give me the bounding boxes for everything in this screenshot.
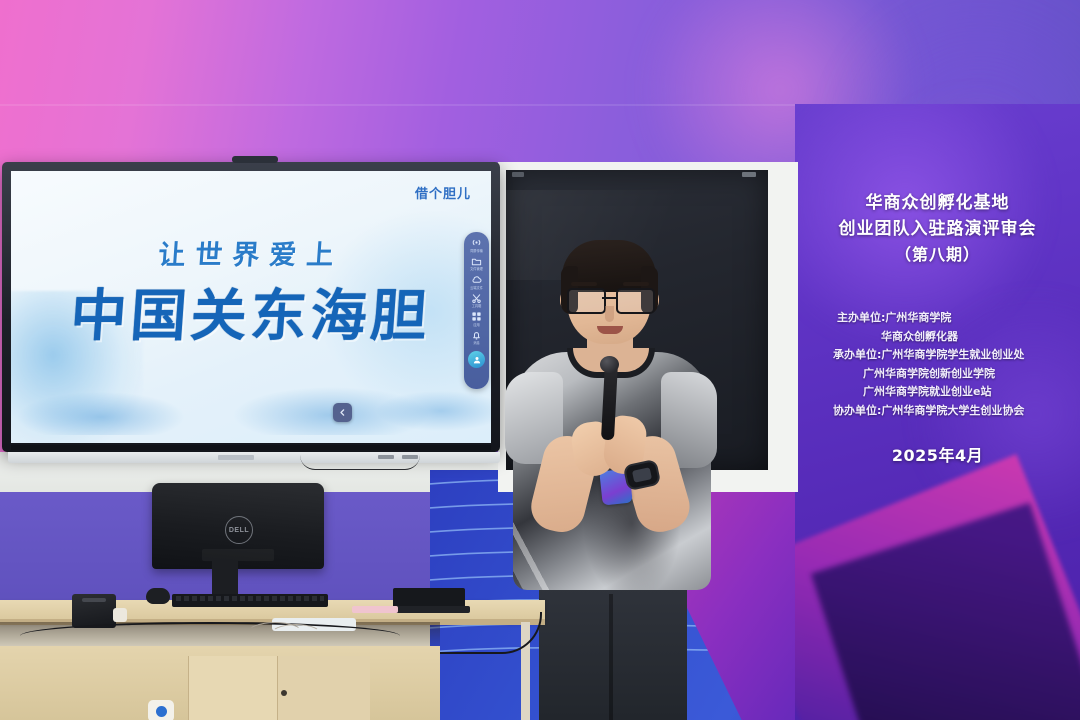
display-camera-notch bbox=[232, 156, 278, 163]
toolbar-item-cloud[interactable]: 云端文件 bbox=[465, 274, 488, 290]
toolbar-label: 应用 bbox=[473, 323, 479, 327]
toolbar-item-messages[interactable]: 消息 bbox=[465, 330, 488, 346]
chevron-left-icon bbox=[338, 408, 347, 417]
presenter-brow-right bbox=[623, 282, 649, 286]
speaker-box bbox=[72, 594, 116, 628]
toolbar-item-broadcast[interactable]: 同屏传输 bbox=[465, 237, 488, 253]
slide-back-button[interactable] bbox=[333, 403, 352, 422]
event-organizers: 主办单位:广州华商学院 华商众创孵化器 承办单位:广州华商学院学生就业创业处 广… bbox=[795, 309, 1080, 420]
toolbar-label: 消息 bbox=[473, 341, 479, 345]
dell-monitor: DELL bbox=[152, 483, 324, 569]
slide-grass-decoration bbox=[11, 365, 491, 435]
toolbar-item-tools[interactable]: 工具箱 bbox=[465, 293, 488, 309]
toolbar-label: 文件管理 bbox=[470, 267, 483, 271]
smart-display[interactable]: 借个胆儿 让世界爱上 中国关东海胆 bbox=[2, 162, 500, 452]
organizer-line: 协办单位:广州华商学院大学生创业协会 bbox=[795, 402, 1080, 421]
cabinet-knob[interactable] bbox=[281, 690, 287, 696]
scissors-icon bbox=[471, 293, 482, 304]
microphone-head bbox=[600, 356, 619, 373]
folder-icon bbox=[471, 256, 482, 267]
slide-screen[interactable]: 借个胆儿 让世界爱上 中国关东海胆 bbox=[11, 171, 491, 443]
blackboard-clip-right bbox=[742, 172, 756, 177]
cabinet-door-right[interactable] bbox=[277, 656, 370, 720]
toolbar-label: 工具箱 bbox=[472, 304, 482, 308]
bell-icon bbox=[471, 330, 482, 341]
slide-headline-line-2: 中国关东海胆 bbox=[11, 271, 491, 352]
event-title-line-2: 创业团队入驻路演评审会 bbox=[795, 216, 1080, 242]
presenter-mouth bbox=[597, 326, 623, 334]
presenter bbox=[505, 240, 720, 720]
grid-icon bbox=[471, 311, 482, 322]
event-title: 华商众创孵化基地 创业团队入驻路演评审会 （第八期） bbox=[795, 190, 1080, 268]
desk-cable-loop-2 bbox=[270, 624, 322, 646]
display-bottom-plate bbox=[8, 452, 500, 463]
user-avatar-icon[interactable] bbox=[468, 351, 485, 368]
dell-logo: DELL bbox=[225, 516, 253, 544]
slide-side-toolbar[interactable]: 同屏传输 文件管理 云端文件 bbox=[464, 232, 489, 389]
presenter-nose bbox=[605, 306, 614, 322]
presenter-brow-left bbox=[571, 282, 597, 286]
event-title-line-3: （第八期） bbox=[795, 242, 1080, 268]
slide-brand-logo: 借个胆儿 bbox=[415, 183, 471, 202]
display-button-strip[interactable] bbox=[218, 455, 254, 460]
toolbar-label: 同屏传输 bbox=[470, 249, 483, 253]
glasses-bridge bbox=[602, 297, 616, 299]
display-chin bbox=[11, 445, 491, 450]
desk-pink-paper bbox=[352, 606, 398, 613]
cabinet-sticker bbox=[148, 700, 174, 720]
blackboard-clip-left bbox=[512, 172, 524, 177]
cloud-icon bbox=[471, 274, 482, 285]
glasses-lens-right bbox=[616, 288, 655, 314]
toolbar-item-apps[interactable]: 应用 bbox=[465, 311, 488, 327]
display-cable bbox=[300, 455, 420, 470]
avatar-glyph bbox=[472, 355, 482, 365]
toolbar-label: 云端文件 bbox=[470, 286, 483, 290]
event-date: 2025年4月 bbox=[795, 442, 1080, 466]
toolbar-item-files[interactable]: 文件管理 bbox=[465, 256, 488, 272]
presenter-pants bbox=[539, 578, 687, 720]
organizer-line: 主办单位:广州华商学院 bbox=[795, 309, 1080, 328]
organizer-line: 华商众创孵化器 bbox=[795, 328, 1080, 347]
organizer-line: 广州华商学院创新创业学院 bbox=[795, 365, 1080, 384]
photo-scene: 华商众创孵化基地 创业团队入驻路演评审会 （第八期） 主办单位:广州华商学院 华… bbox=[0, 0, 1080, 720]
cabinet-door-left[interactable] bbox=[188, 656, 277, 720]
event-backdrop: 华商众创孵化基地 创业团队入驻路演评审会 （第八期） 主办单位:广州华商学院 华… bbox=[795, 104, 1080, 720]
glasses-lens-left bbox=[567, 288, 606, 314]
organizer-line: 广州华商学院就业创业e站 bbox=[795, 383, 1080, 402]
slide-headline-line-1: 让世界爱上 bbox=[11, 233, 491, 272]
event-title-line-1: 华商众创孵化基地 bbox=[795, 190, 1080, 216]
organizer-line: 承办单位:广州华商学院学生就业创业处 bbox=[795, 346, 1080, 365]
computer-mouse bbox=[146, 588, 170, 604]
keyboard-keys bbox=[176, 596, 324, 601]
desk-small-white-object bbox=[113, 608, 127, 622]
broadcast-icon bbox=[471, 237, 482, 248]
